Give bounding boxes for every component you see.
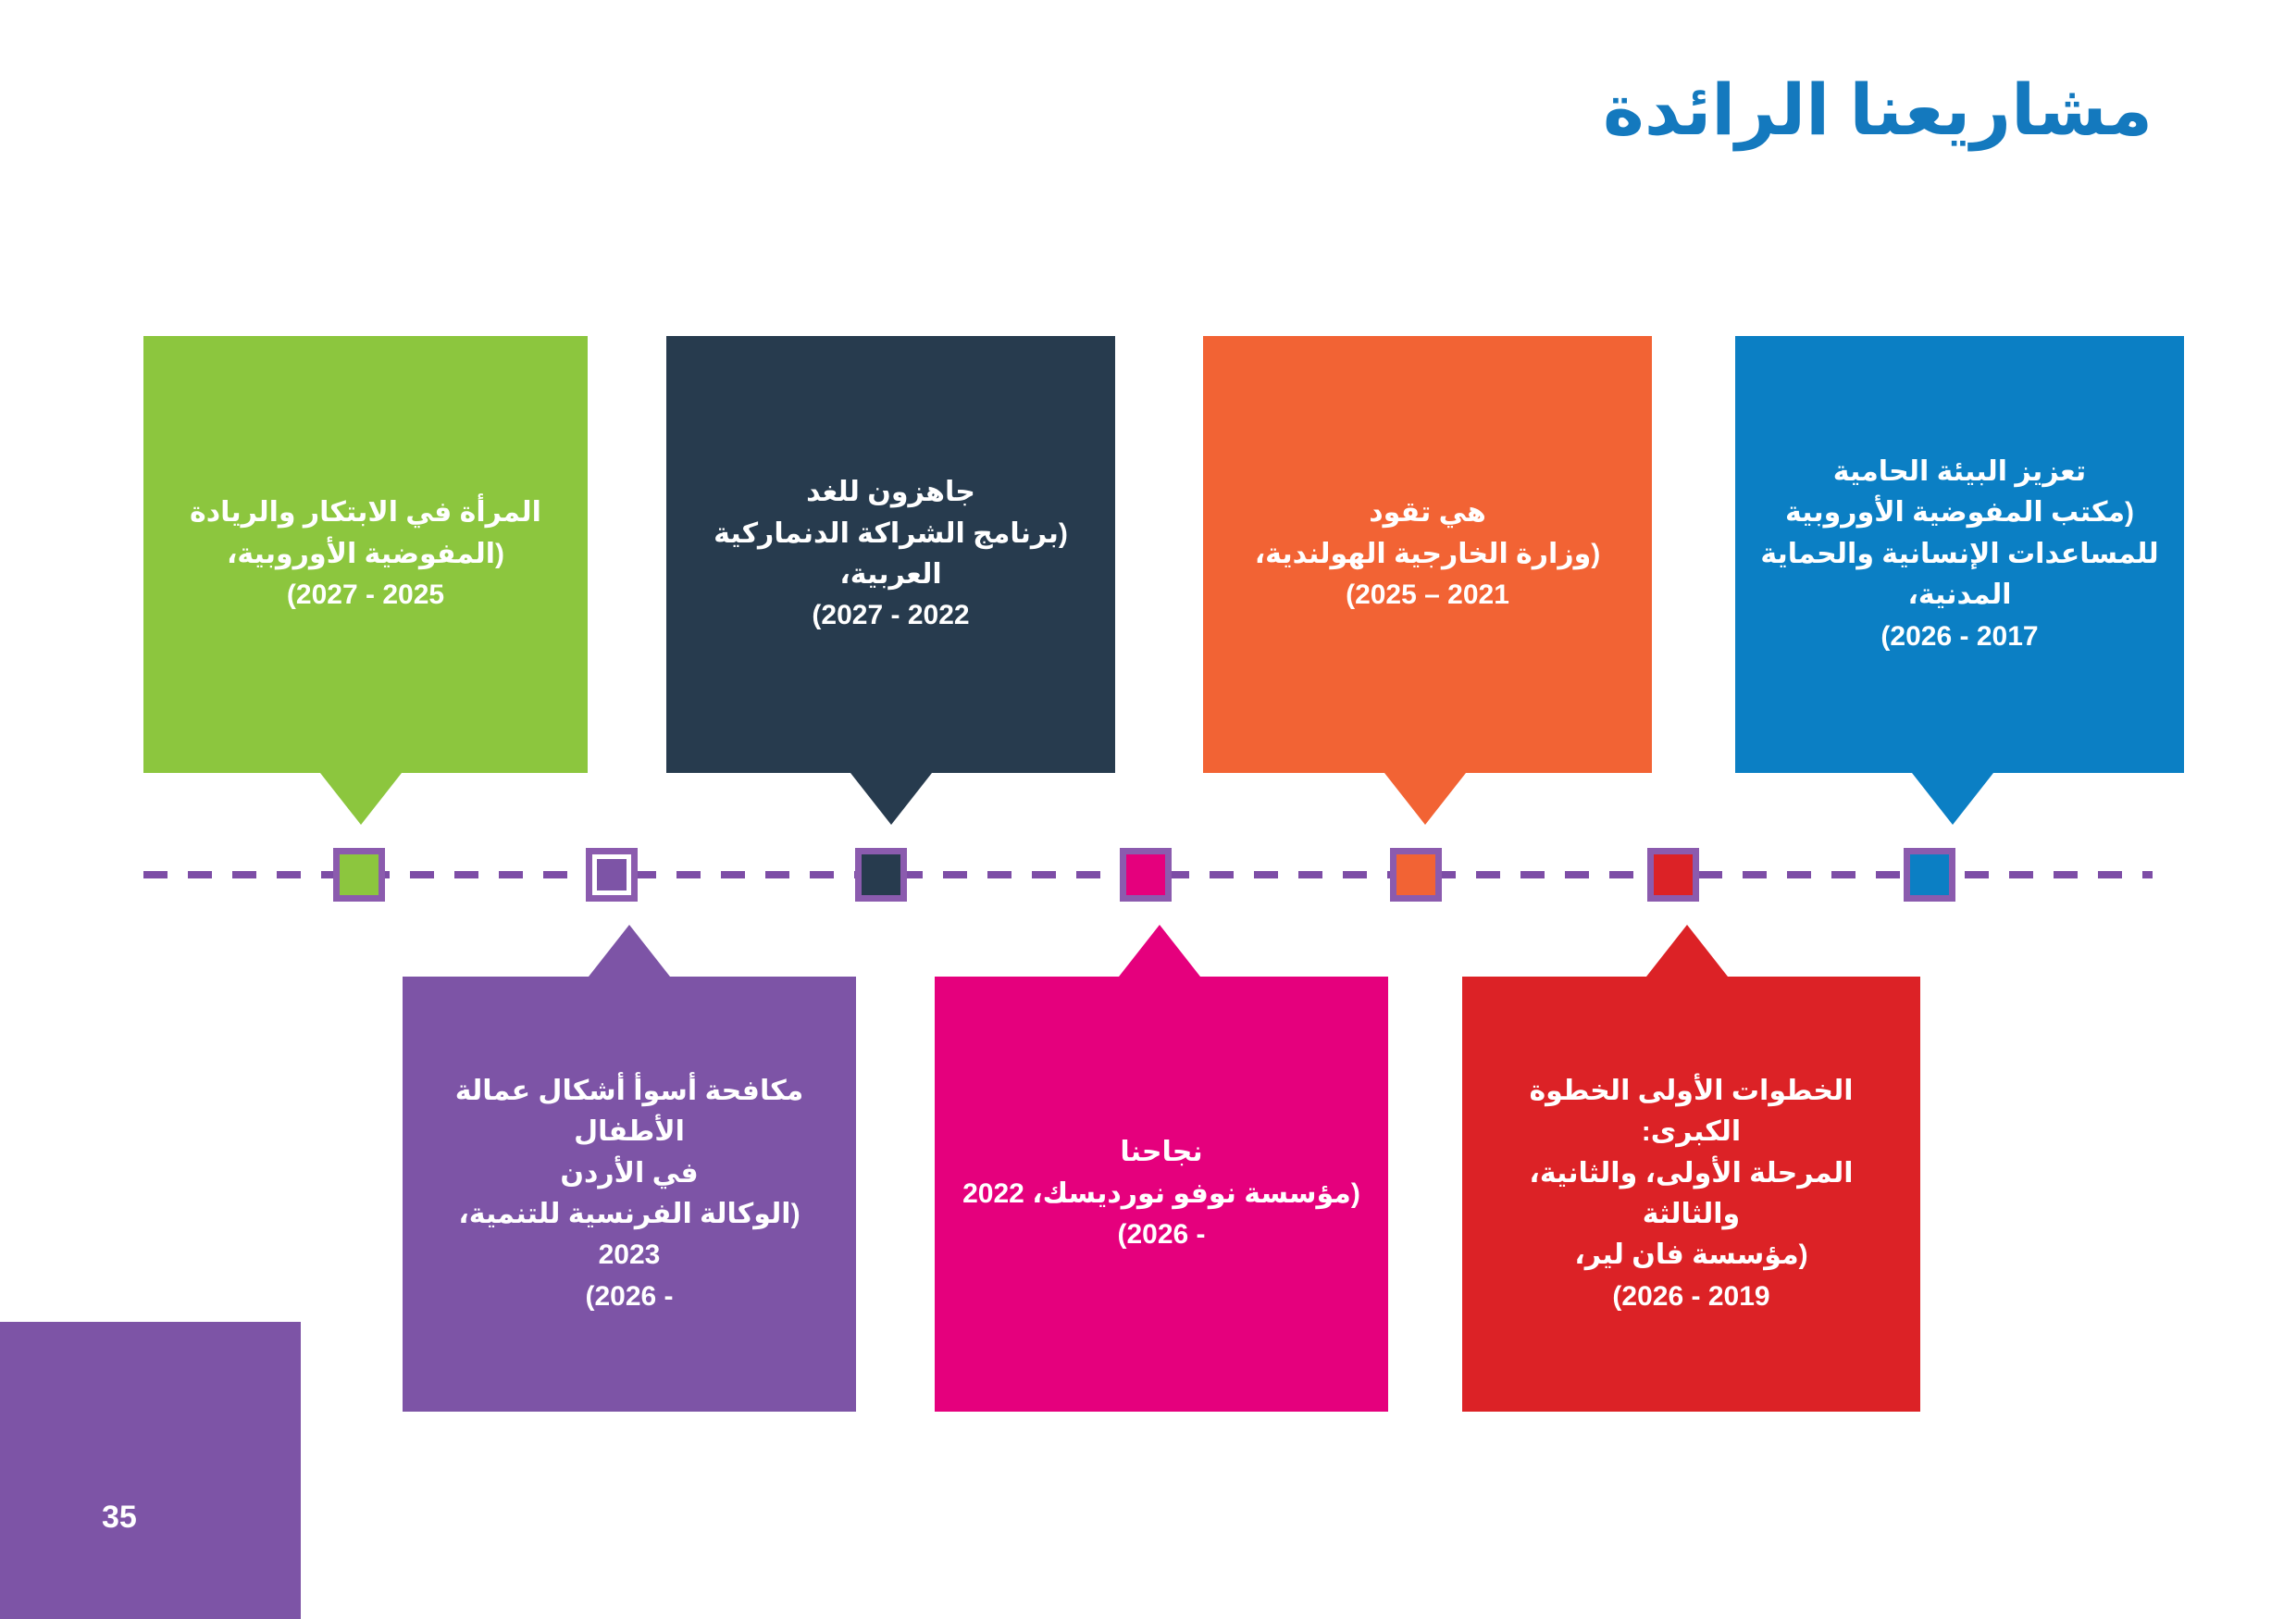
project-card-line: هي تقود [1227,492,1628,533]
page-title: مشاريعنا الرائدة [1603,72,2153,150]
card-pointer-first-steps [1646,925,1728,977]
project-card-child-labour[interactable]: مكافحة أسوأ أشكال عمالة الأطفالفي الأردن… [403,977,856,1412]
card-pointer-women-innovation [320,773,402,825]
project-card-text: هي تقود(وزارة الخارجية الهولندية،2021 – … [1227,492,1628,616]
project-card-line: 2022 - 2027) [690,595,1091,636]
project-card-line: (الوكالة الفرنسية للتنمية، 2023 [427,1194,832,1277]
project-card-text: مكافحة أسوأ أشكال عمالة الأطفالفي الأردن… [427,1071,832,1317]
timeline-marker-green[interactable] [333,848,385,902]
project-card-our-success[interactable]: نجاحنا(مؤسسة نوفو نورديسك، 2022- 2026) [935,977,1388,1412]
project-card-line: تعزيز البيئة الحامية [1759,452,2160,492]
card-pointer-ready-for-tomorrow [850,773,932,825]
page-accent-block [0,1322,301,1619]
page-number: 35 [102,1500,137,1536]
project-card-text: المرأة في الابتكار والريادة(المفوضية الأ… [168,492,564,616]
project-card-line: جاهزون للغد [690,472,1091,513]
project-card-line: المرأة في الابتكار والريادة [168,492,564,533]
project-card-line: في الأردن [427,1153,832,1194]
project-card-line: المدنية، [1759,575,2160,616]
project-card-line: 2019 - 2026) [1486,1277,1896,1317]
card-pointer-she-leads [1384,773,1466,825]
project-card-line: (مؤسسة فان لير، [1486,1235,1896,1276]
project-card-women-innovation[interactable]: المرأة في الابتكار والريادة(المفوضية الأ… [143,336,588,773]
project-card-text: الخطوات الأولى الخطوة الكبرى:المرحلة الأ… [1486,1071,1896,1317]
project-card-line: العربية، [690,554,1091,595]
timeline-marker-red[interactable] [1647,848,1699,902]
timeline-marker-inner [597,859,627,890]
project-card-line: (مؤسسة نوفو نورديسك، 2022 [959,1174,1364,1214]
timeline-marker-orange[interactable] [1390,848,1442,902]
project-card-line: 2025 - 2027) [168,575,564,616]
project-card-line: (المفوضية الأوروبية، [168,534,564,575]
timeline-marker-purple[interactable] [586,848,638,902]
project-card-line: 2021 – 2025) [1227,575,1628,616]
project-card-first-steps[interactable]: الخطوات الأولى الخطوة الكبرى:المرحلة الأ… [1462,977,1920,1412]
project-card-line: - 2026) [427,1277,832,1317]
project-card-line: الخطوات الأولى الخطوة الكبرى: [1486,1071,1896,1153]
project-card-text: نجاحنا(مؤسسة نوفو نورديسك، 2022- 2026) [959,1132,1364,1255]
timeline-marker-blue[interactable] [1904,848,1955,902]
project-card-she-leads[interactable]: هي تقود(وزارة الخارجية الهولندية،2021 – … [1203,336,1652,773]
project-card-line: - 2026) [959,1214,1364,1255]
project-card-text: جاهزون للغد(برنامج الشراكة الدنماركيةالع… [690,472,1091,637]
timeline-marker-pink[interactable] [1120,848,1172,902]
project-card-line: نجاحنا [959,1132,1364,1173]
project-card-line: (وزارة الخارجية الهولندية، [1227,534,1628,575]
project-card-line: مكافحة أسوأ أشكال عمالة الأطفال [427,1071,832,1153]
project-card-line: (برنامج الشراكة الدنماركية [690,514,1091,554]
project-card-line: للمساعدات الإنسانية والحماية [1759,534,2160,575]
project-card-line: المرحلة الأولى، والثانية، والثالثة [1486,1153,1896,1236]
project-card-text: تعزيز البيئة الحامية(مكتب المفوضية الأور… [1759,452,2160,657]
project-card-line: 2017 - 2026) [1759,616,2160,657]
project-card-protective-environment[interactable]: تعزيز البيئة الحامية(مكتب المفوضية الأور… [1735,336,2184,773]
timeline-marker-navy[interactable] [855,848,907,902]
slide-canvas: مشاريعنا الرائدة المرأة في الابتكار والر… [0,0,2296,1619]
project-card-ready-for-tomorrow[interactable]: جاهزون للغد(برنامج الشراكة الدنماركيةالع… [666,336,1115,773]
project-card-line: (مكتب المفوضية الأوروبية [1759,492,2160,533]
card-pointer-our-success [1119,925,1200,977]
card-pointer-child-labour [589,925,670,977]
card-pointer-protective-environment [1912,773,1993,825]
